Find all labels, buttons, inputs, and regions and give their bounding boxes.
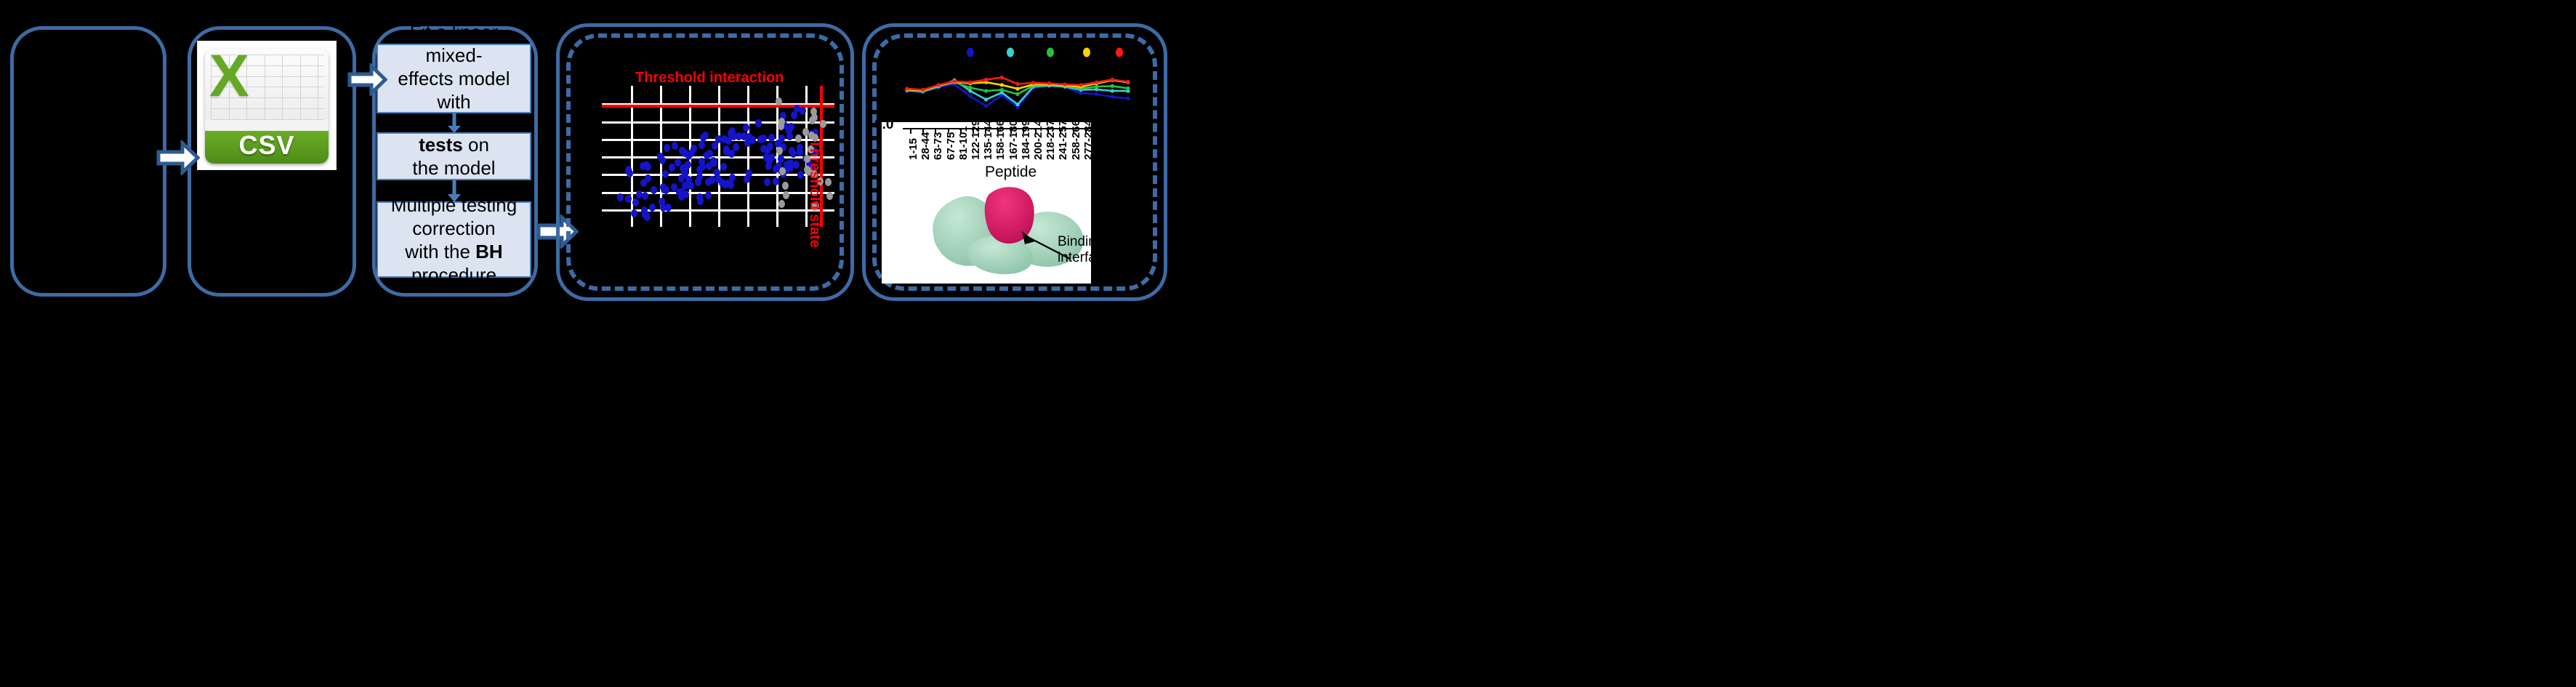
peptide-tick-label: 158-166 [994,120,1007,160]
point-series-5 [1015,82,1019,86]
point-series-2 [1015,103,1019,106]
csv-file-icon: X CSV [198,41,336,169]
y-axis-tick-zero: 0.0 [874,117,893,133]
point-series-3 [1126,87,1130,90]
point-series-3 [1111,84,1114,88]
point-series-5 [1031,81,1035,84]
process-box-reml: Fit a linear mixed-effects model withREM… [377,44,531,113]
peptide-tick-label: 1-15 [907,138,919,160]
binding-interface-label: Binding interface [1058,234,1111,266]
peptide-axis-title: Peptide [985,164,1037,181]
process-box-wald: Apply Wald tests onthe model parameters [377,132,531,180]
point-series-1 [968,95,972,98]
peptide-tick-label: 277-284 [1082,120,1095,160]
csv-banner-label: CSV [205,130,329,161]
peptide-tick-mark [1010,129,1012,134]
peptide-tick-mark [1047,129,1049,134]
process-box-bh: Multiple testingcorrectionwith the BH pr… [377,201,531,278]
peptide-tick-mark [922,129,924,134]
peptide-tick-label: 81-101 [957,126,970,160]
point-series-3 [1015,92,1019,96]
point-series-5 [1047,81,1051,85]
peptide-tick-mark [1060,129,1061,134]
peptide-tick-label: 241-257 [1057,120,1069,160]
csv-banner: CSV [205,131,329,164]
point-series-5 [1000,76,1004,79]
legend-dot-series-2 [1007,48,1014,57]
peptide-tick-label: 28-44 [919,132,932,160]
point-series-3 [968,86,972,89]
peptide-tick-label: 63-73 [932,132,944,160]
peptide-tick-mark [1035,129,1037,134]
csv-icon-body: X CSV [205,49,329,164]
peptide-line-chart [901,44,1134,124]
point-series-5 [953,79,957,83]
legend-dot-series-4 [1083,48,1090,57]
point-series-5 [1095,81,1098,84]
point-series-1 [1111,95,1114,99]
peptide-tick-mark [985,129,986,134]
peptide-tick-label: 184-199 [1020,120,1032,160]
point-series-5 [905,87,909,91]
point-series-2 [968,89,972,93]
csv-x-letter: X [209,50,247,103]
peptide-tick-label: 200-214 [1032,120,1045,160]
point-series-3 [1000,88,1004,92]
arrow-wald-to-bh [446,180,463,202]
peptide-axis-line [903,128,1095,129]
peptide-tick-label: 218-237 [1045,120,1057,160]
arrow-csv-to-model [347,63,387,96]
peptide-tick-mark [1023,129,1024,134]
threshold-state-label: Threshold state [806,140,823,248]
legend-dot-series-3 [1047,48,1054,57]
point-series-4 [1000,83,1004,87]
point-series-2 [1111,89,1114,93]
peptide-tick-mark [910,129,911,134]
point-series-1 [984,104,988,108]
peptide-tick-label: 135-144 [982,120,994,160]
peptide-tick-mark [960,129,962,134]
binding-interface-line2: interface [1058,250,1111,266]
point-series-5 [937,83,941,87]
peptide-tick-mark [948,129,949,134]
point-series-5 [984,78,988,81]
point-series-5 [1111,78,1114,81]
point-series-2 [984,97,988,101]
point-series-4 [1015,87,1019,91]
peptide-tick-label: 122-129 [970,120,982,160]
point-series-3 [984,89,988,93]
point-series-5 [1079,83,1082,87]
peptide-tick-label: 258-266 [1070,120,1082,160]
peptide-tick-mark [1073,129,1074,134]
peptide-tick-mark [973,129,974,134]
peptide-tick-label: 67-75 [945,132,957,160]
binding-interface-line1: Binding [1058,234,1111,250]
point-series-5 [1126,80,1130,84]
peptide-tick-mark [935,129,936,134]
point-series-3 [1095,85,1098,89]
point-series-1 [1126,97,1130,100]
threshold-interaction-label: Threshold interaction [635,70,784,87]
arrow-reml-to-wald [446,113,463,133]
scatter-plot [602,86,834,227]
point-series-5 [1063,83,1067,87]
peptide-tick-mark [1085,129,1087,134]
point-series-1 [1095,92,1098,96]
legend-dot-series-1 [967,48,974,57]
legend-dot-series-5 [1116,48,1123,57]
point-series-5 [921,88,925,92]
process-box-bh-text: Multiple testingcorrectionwith the BH pr… [384,193,524,286]
arrow-input-to-csv [156,140,200,175]
protein-structure-image [925,180,1103,282]
peptide-tick-mark [997,129,999,134]
workflow-figure: X CSV Fit a linear mixed-effects model w… [0,0,2576,687]
point-series-5 [968,81,972,84]
panel-data-input [10,26,166,297]
peptide-tick-label: 167-180 [1007,120,1020,160]
